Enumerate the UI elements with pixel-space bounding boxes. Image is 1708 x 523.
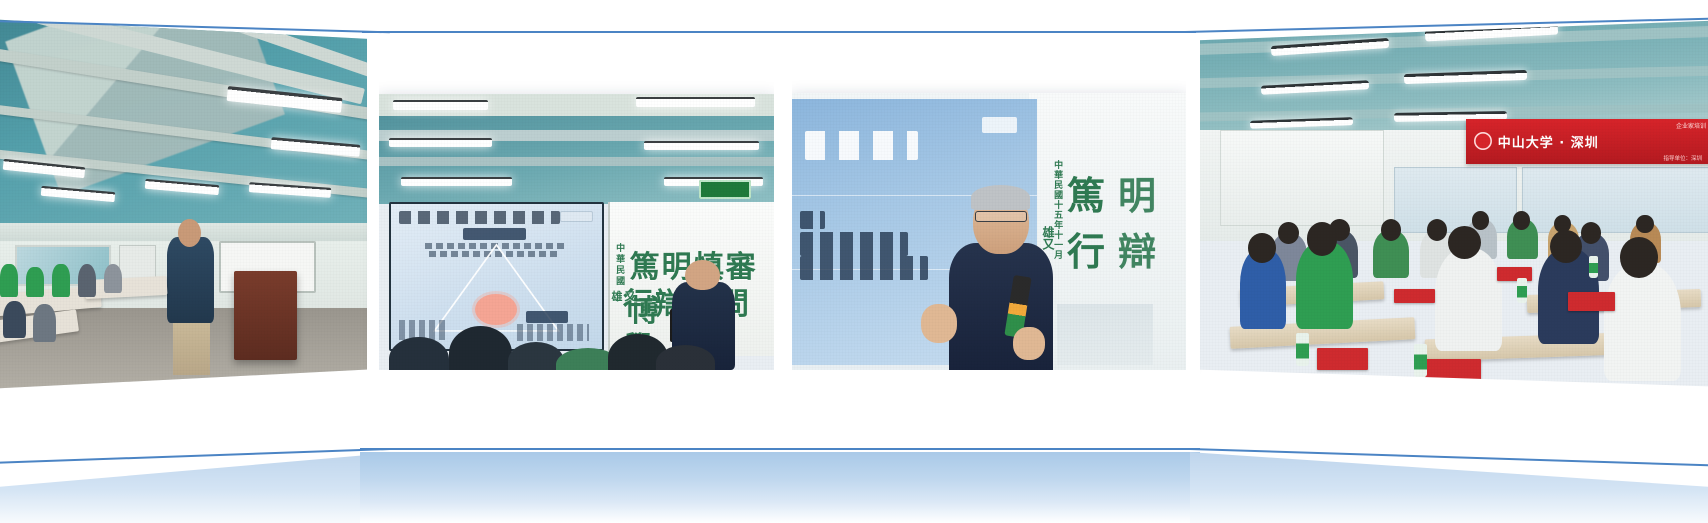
ceiling-lamp [644, 141, 759, 150]
screen-logo [560, 211, 594, 223]
diagram-top-label [463, 228, 526, 240]
calligraphy-signature: 雄又 [1040, 226, 1057, 250]
carousel-slide-3-active[interactable]: 篤 行 明 辯 中華民國十五年十一月 雄又 [790, 93, 1188, 371]
instructor-legs [173, 316, 210, 376]
calligraphy-char-2: 行 [1067, 221, 1105, 276]
wall-gate-illustration [1057, 304, 1153, 365]
ceiling-lamp [389, 138, 492, 147]
frame-mask-bottom-left [0, 386, 390, 470]
attendee-head [1550, 230, 1582, 263]
attendee [26, 267, 45, 297]
podium [234, 271, 297, 360]
carousel-slide-1[interactable]: Classroom with teal exposed-pipe ceiling… [0, 18, 368, 390]
ceiling-lamp [401, 177, 512, 186]
attendee [104, 264, 123, 294]
attendee-head [1381, 219, 1402, 241]
calligraphy-char-4: 辯 [1118, 221, 1156, 276]
slide-1-photo [0, 18, 368, 390]
attendee [52, 264, 71, 297]
window [1522, 167, 1708, 233]
slide-bullet-2-text [800, 256, 928, 280]
speaker-head [685, 260, 719, 290]
water-bottle [1517, 278, 1527, 304]
reflection-panel-center [360, 452, 1200, 523]
water-bottle [1296, 333, 1308, 366]
slide-2-photo: 篤明慎審博 行辯思問學 中華民國 雄又 [377, 94, 775, 370]
slide-bullet-1-text [800, 232, 909, 256]
exit-sign [699, 180, 751, 199]
speaker-glasses [975, 211, 1027, 222]
attendee [0, 264, 18, 297]
banner-bottom-text: 指导单位：深圳 [1663, 154, 1702, 162]
banner-main-text: 中山大学 · 深圳 [1498, 132, 1599, 151]
diagram-right-label [526, 311, 568, 323]
slide-bullet-marker [800, 211, 825, 230]
ceiling-lamp [393, 100, 489, 110]
attendee-head [1472, 211, 1489, 229]
frame-mask-top [360, 0, 1200, 31]
instructor-head [178, 219, 201, 247]
attendee-front [1435, 248, 1502, 351]
slide-3-photo: 篤 行 明 辯 中華民國十五年十一月 雄又 [790, 93, 1188, 371]
slide-4-photo: 中山大学 · 深圳 企业家培训 指导单位：深圳 [1199, 20, 1708, 388]
name-card [1317, 348, 1368, 370]
projection-screen [389, 202, 604, 351]
university-banner: 中山大学 · 深圳 企业家培训 指导单位：深圳 [1466, 119, 1708, 163]
attendee-head [1307, 222, 1338, 255]
attendee-front [1604, 263, 1681, 381]
gallery-stage: Classroom with teal exposed-pipe ceiling… [0, 0, 1708, 523]
slide-4-alt: Wide view of a full classroom audience f… [1199, 20, 1200, 21]
carousel-slide-4[interactable]: 中山大学 · 深圳 企业家培训 指导单位：深圳 [1199, 20, 1708, 388]
banner-top-right-text: 企业家培训 [1676, 121, 1706, 130]
attendee-head [1427, 219, 1448, 241]
attendee-head [1278, 222, 1299, 244]
calligraphy-seal: 雄又 [611, 288, 637, 304]
screen-title-text [399, 211, 559, 224]
slide-title-text [805, 131, 919, 160]
diagram-right-note [517, 324, 589, 341]
ceiling-duct [377, 157, 775, 166]
calligraphy-wall: 篤 行 明 辯 中華民國十五年十一月 雄又 [1029, 93, 1188, 371]
slide-logo [982, 117, 1017, 133]
reflection-panel-left [0, 440, 400, 523]
attendee-head [1513, 211, 1530, 229]
speaker-hair [971, 185, 1029, 210]
carousel-slide-2[interactable]: 篤明慎審博 行辯思問學 中華民國 雄又 Speaker with microph… [377, 94, 775, 370]
speaker-hand-left [921, 304, 957, 343]
ceiling-lamp [636, 97, 755, 107]
calligraphy-char-1: 篤 [1067, 165, 1105, 220]
name-card [1568, 292, 1614, 310]
water-bottle [1414, 344, 1426, 377]
attendee-head [1620, 237, 1658, 277]
speaker-hand-right [1013, 327, 1045, 360]
slide-gap-3-4 [1186, 0, 1200, 400]
name-card [1425, 359, 1481, 381]
instructor-body [167, 237, 214, 323]
attendee [3, 301, 25, 338]
water-bottle [1589, 256, 1598, 278]
calligraphy-char-3: 明 [1118, 165, 1156, 220]
window [1394, 167, 1517, 233]
projection-screen-blank [1220, 130, 1384, 226]
name-card [1497, 267, 1533, 282]
name-card [1394, 289, 1435, 304]
reflection-panel-right [1190, 440, 1708, 523]
university-seal-icon [1474, 132, 1492, 150]
calligraphy-side-left: 中華民國 [613, 243, 626, 287]
frame-mask-top-left [0, 0, 390, 26]
frame-mask-bottom [360, 370, 1200, 450]
attendee [33, 304, 55, 341]
attendee-head [1636, 215, 1653, 233]
attendee [78, 264, 97, 297]
attendee-head [1248, 233, 1276, 262]
